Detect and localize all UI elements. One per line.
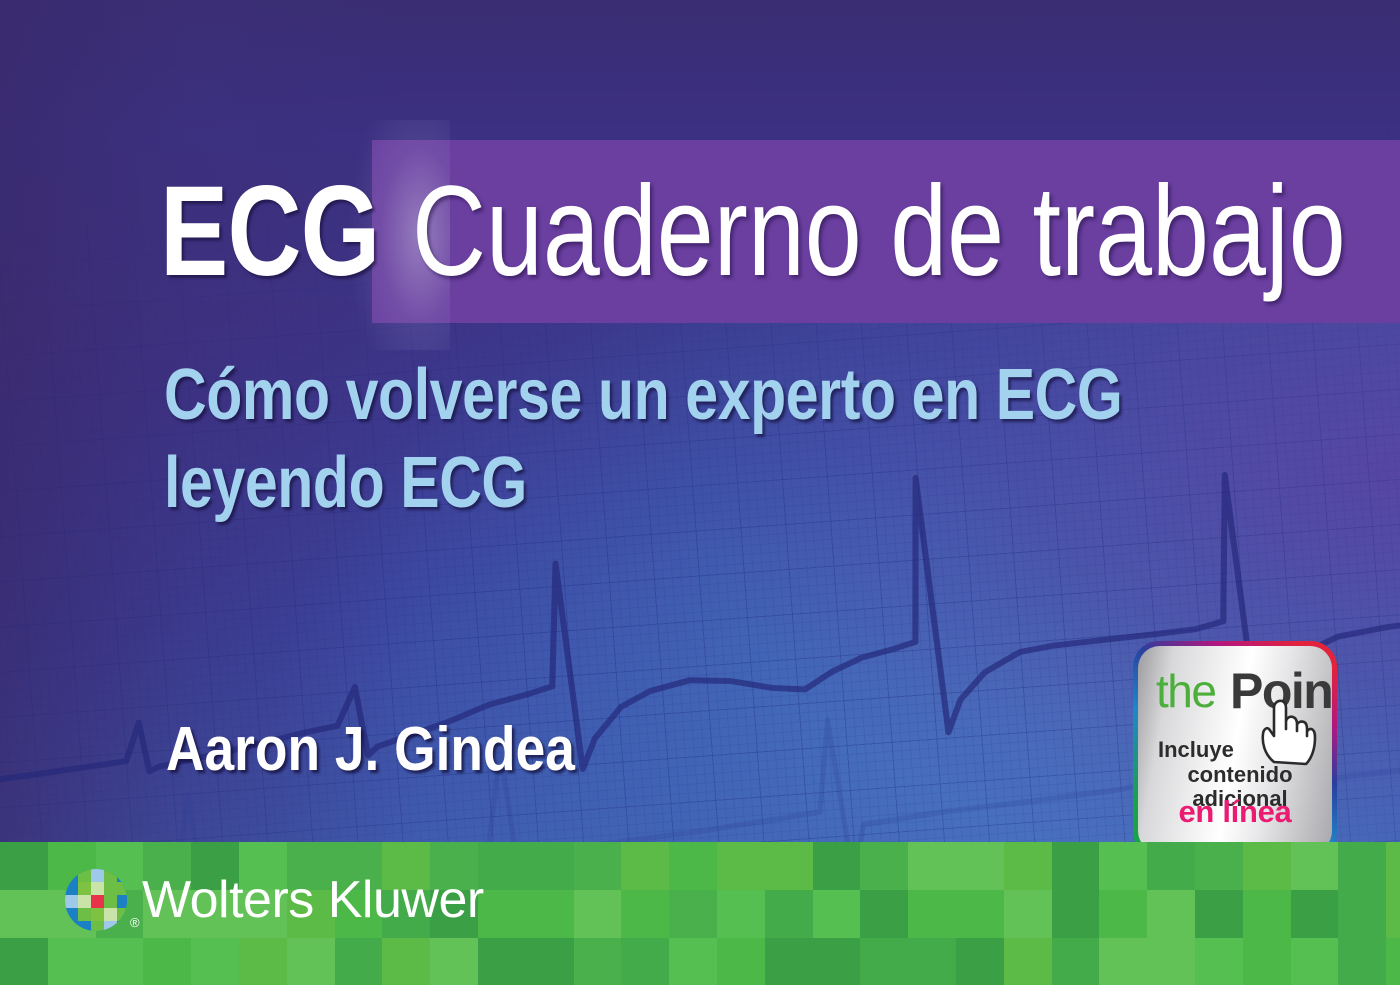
publisher-logo: ® Wolters Kluwer xyxy=(62,866,484,934)
subtitle-line-2: leyendo ECG xyxy=(164,440,1082,528)
badge-description-line-1: Incluye xyxy=(1150,738,1330,763)
publisher-footer: ® Wolters Kluwer xyxy=(0,842,1400,985)
publisher-name: Wolters Kluwer xyxy=(142,870,484,930)
registered-trademark-mark: ® xyxy=(130,915,140,930)
book-cover: ECG Cuaderno de trabajo Cómo volverse un… xyxy=(0,0,1400,985)
badge-face: the Point Incluye contenido adicional en… xyxy=(1138,646,1332,853)
the-point-logo-the: the xyxy=(1156,664,1215,718)
the-point-logo: the Point xyxy=(1154,660,1326,724)
title-row: ECG Cuaderno de trabajo xyxy=(0,140,1400,323)
subtitle: Cómo volverse un experto en ECG leyendo … xyxy=(164,352,1082,528)
subtitle-line-1: Cómo volverse un experto en ECG xyxy=(164,352,1082,440)
author-name: Aaron J. Gindea xyxy=(166,714,575,785)
wolters-kluwer-globe-icon: ® xyxy=(62,866,130,934)
the-point-badge[interactable]: the Point Incluye contenido adicional en… xyxy=(1133,641,1337,858)
title-ecg-word: ECG xyxy=(160,168,380,296)
badge-online-text: en línea xyxy=(1138,794,1332,830)
title-main-text: Cuaderno de trabajo xyxy=(412,168,1346,296)
